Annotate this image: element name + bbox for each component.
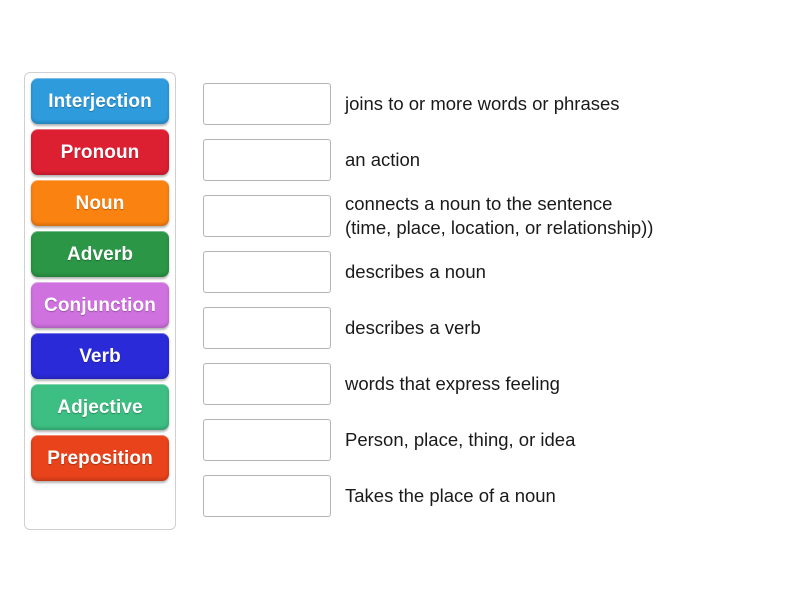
definition-row: connects a noun to the sentence (time, p…: [203, 188, 783, 244]
word-tiles-panel: InterjectionPronounNounAdverbConjunction…: [24, 72, 176, 530]
answer-drop-box[interactable]: [203, 251, 331, 293]
answer-drop-box[interactable]: [203, 83, 331, 125]
definition-text: an action: [345, 148, 420, 172]
word-tile-label: Preposition: [47, 449, 153, 468]
definition-row: words that express feeling: [203, 356, 783, 412]
definition-text: Takes the place of a noun: [345, 484, 556, 508]
word-tile[interactable]: Noun: [31, 180, 169, 226]
word-tile[interactable]: Verb: [31, 333, 169, 379]
answer-drop-box[interactable]: [203, 307, 331, 349]
definition-row: joins to or more words or phrases: [203, 76, 783, 132]
definition-text: describes a verb: [345, 316, 481, 340]
definition-text: words that express feeling: [345, 372, 560, 396]
word-tile[interactable]: Pronoun: [31, 129, 169, 175]
definition-text: connects a noun to the sentence (time, p…: [345, 192, 653, 239]
definition-row: describes a verb: [203, 300, 783, 356]
answer-drop-box[interactable]: [203, 139, 331, 181]
word-tile-label: Adverb: [67, 245, 133, 264]
word-tile[interactable]: Adverb: [31, 231, 169, 277]
word-tile-label: Interjection: [48, 92, 152, 111]
definition-text: Person, place, thing, or idea: [345, 428, 575, 452]
word-tile[interactable]: Interjection: [31, 78, 169, 124]
word-tile-label: Adjective: [57, 398, 142, 417]
definition-row: Takes the place of a noun: [203, 468, 783, 524]
answer-drop-box[interactable]: [203, 363, 331, 405]
word-tile[interactable]: Conjunction: [31, 282, 169, 328]
word-tile-label: Verb: [79, 347, 121, 366]
word-tile[interactable]: Adjective: [31, 384, 169, 430]
answer-drop-box[interactable]: [203, 419, 331, 461]
definition-text: describes a noun: [345, 260, 486, 284]
word-tile-label: Noun: [76, 194, 125, 213]
definition-row: describes a noun: [203, 244, 783, 300]
answer-drop-box[interactable]: [203, 195, 331, 237]
activity-root: InterjectionPronounNounAdverbConjunction…: [0, 0, 800, 600]
word-tile[interactable]: Preposition: [31, 435, 169, 481]
definition-rows: joins to or more words or phrasesan acti…: [203, 76, 783, 524]
definition-row: Person, place, thing, or idea: [203, 412, 783, 468]
answer-drop-box[interactable]: [203, 475, 331, 517]
word-tile-label: Pronoun: [61, 143, 140, 162]
definition-text: joins to or more words or phrases: [345, 92, 620, 116]
word-tile-label: Conjunction: [44, 296, 156, 315]
definition-row: an action: [203, 132, 783, 188]
